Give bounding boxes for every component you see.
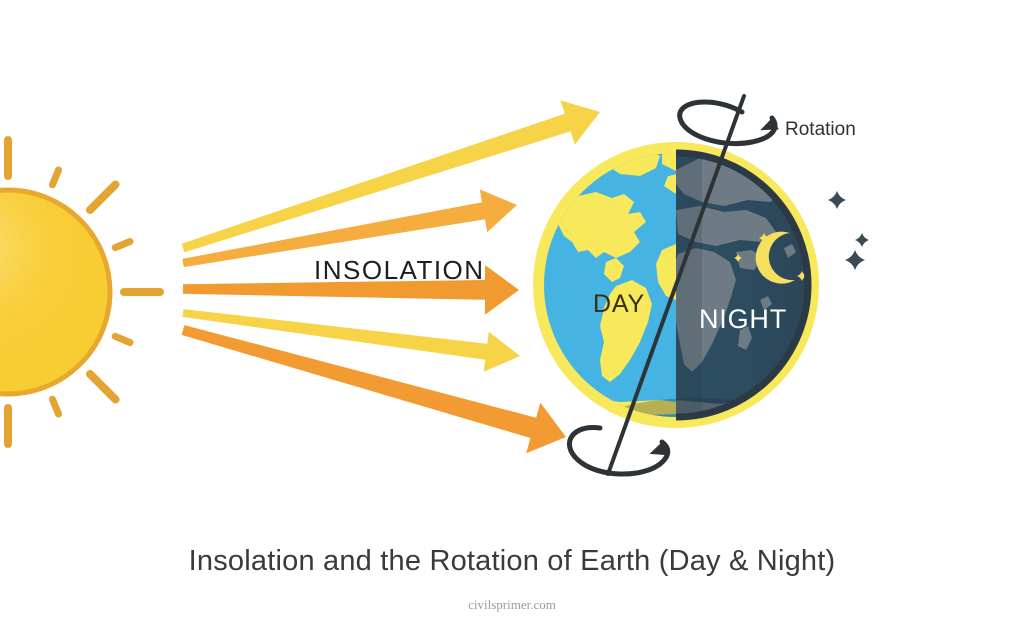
sun-group [0,140,160,444]
figure-caption: Insolation and the Rotation of Earth (Da… [189,545,836,577]
watermark: civilsprimer.com [468,597,556,612]
sparkle-star-icon [855,233,869,247]
insolation-label: INSOLATION [314,255,485,285]
sparkle-star-icon [828,191,846,209]
sun-ray [52,170,58,185]
sun-ray [115,336,130,342]
insolation-arrow-5 [182,325,566,453]
outer-sparkle-stars [828,191,869,270]
rotation-label: Rotation [785,119,856,140]
sparkle-star-icon [845,250,865,270]
terminator-shadow [676,140,702,440]
sun-highlight [0,193,107,391]
sun-ray [90,374,116,400]
diagram-canvas: INSOLATION Rotation DAY NIGHT Insolation… [0,0,1024,617]
day-label: DAY [593,290,645,318]
sun-ray [52,399,58,414]
night-label: NIGHT [699,304,787,334]
sun-ray [90,185,116,211]
earth-group [520,140,836,442]
insolation-earth-diagram: INSOLATION Rotation DAY NIGHT Insolation… [0,0,1024,617]
rotation-arrow-bottom [569,427,667,474]
sun-ray [115,242,130,248]
